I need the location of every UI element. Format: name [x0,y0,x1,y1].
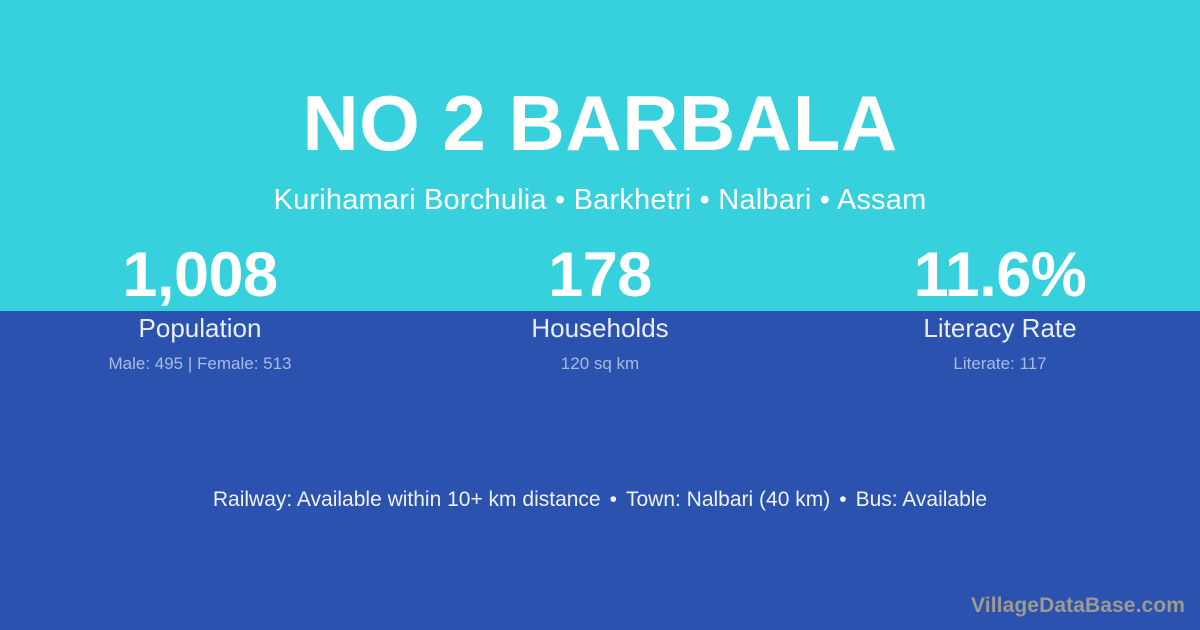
transport-info-line: Railway: Available within 10+ km distanc… [0,487,1200,512]
stat-label: Population [0,314,400,343]
breadcrumb: Kurihamari Borchulia • Barkhetri • Nalba… [0,186,1200,215]
stat-value: 1,008 [0,244,400,310]
info-separator-2: • [830,487,855,512]
stat-sublabel: Male: 495 | Female: 513 [0,355,400,374]
stat-value: 11.6% [800,244,1200,310]
stat-literacy-rate: 11.6% Literacy Rate Literate: 117 [800,244,1200,373]
stat-value: 178 [400,244,800,310]
stat-label: Literacy Rate [800,314,1200,343]
village-info-card: NO 2 BARBALA Kurihamari Borchulia • Bark… [0,0,1200,630]
stat-sublabel: Literate: 117 [800,355,1200,374]
stat-households: 178 Households 120 sq km [400,244,800,373]
info-separator-1: • [601,487,626,512]
site-watermark: VillageDataBase.com [971,594,1185,618]
card-header: NO 2 BARBALA Kurihamari Borchulia • Bark… [0,0,1200,215]
page-title: NO 2 BARBALA [0,0,1200,162]
bus-info: Bus: Available [856,488,988,511]
stat-label: Households [400,314,800,343]
stats-row: 1,008 Population Male: 495 | Female: 513… [0,244,1200,373]
stat-population: 1,008 Population Male: 495 | Female: 513 [0,244,400,373]
stat-sublabel: 120 sq km [400,355,800,374]
town-info: Town: Nalbari (40 km) [626,488,830,511]
railway-info: Railway: Available within 10+ km distanc… [213,488,601,511]
